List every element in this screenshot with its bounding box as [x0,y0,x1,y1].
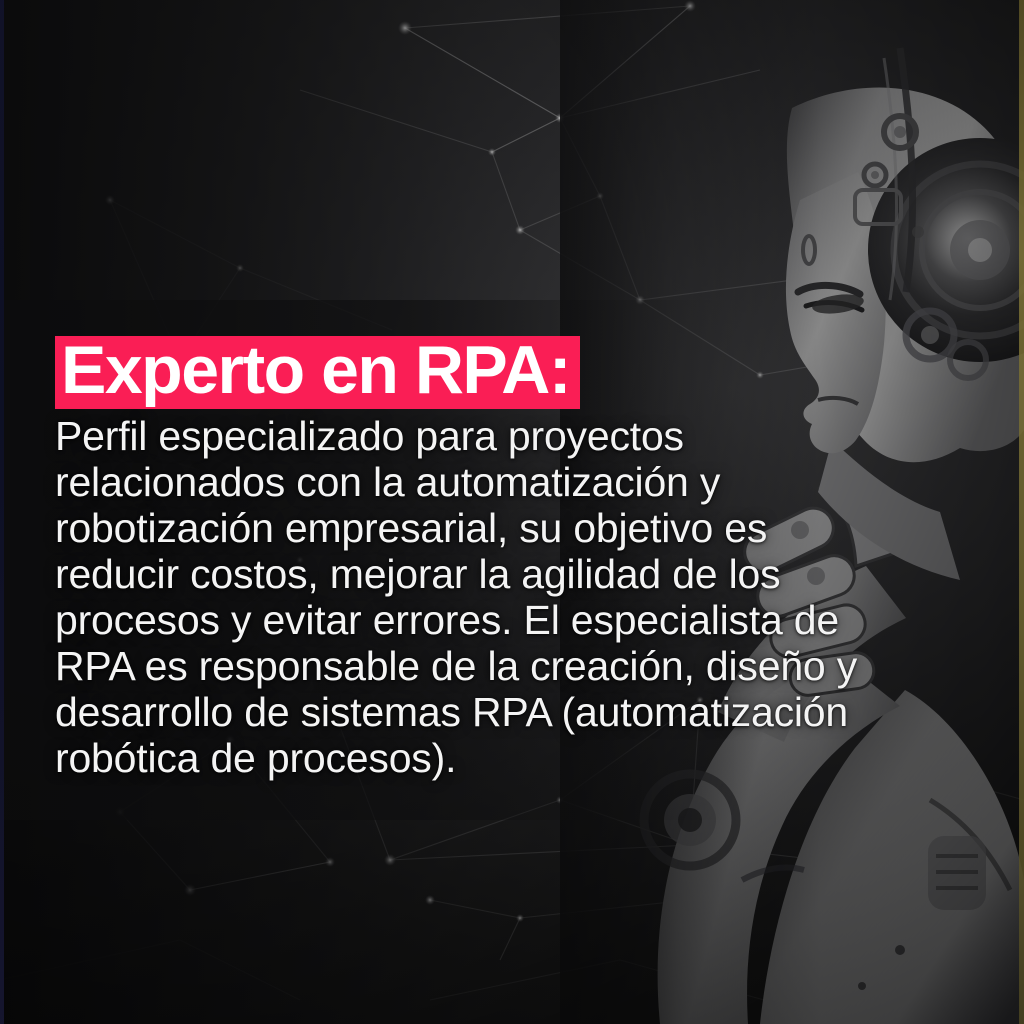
description-line: procesos y evitar errores. El especialis… [55,597,955,643]
description-line: robótica de procesos). [55,735,955,781]
description-line: RPA es responsable de la creación, diseñ… [55,643,955,689]
description-line: relacionados con la automatización y [55,459,955,505]
title-highlight-banner: Experto en RPA: [55,336,580,409]
description-line: reducir costos, mejorar la agilidad de l… [55,551,955,597]
poster-canvas: Experto en RPA: Perfil especializado par… [0,0,1024,1024]
description-block: Perfil especializado para proyectos rela… [55,413,955,781]
poster-content: Experto en RPA: Perfil especializado par… [55,336,955,781]
left-edge-border [0,0,4,1024]
description-line: desarrollo de sistemas RPA (automatizaci… [55,689,955,735]
description-line: Perfil especializado para proyectos [55,413,955,459]
description-line: robotización empresarial, su objetivo es [55,505,955,551]
right-edge-border [1019,0,1024,1024]
page-title: Experto en RPA: [61,338,570,403]
